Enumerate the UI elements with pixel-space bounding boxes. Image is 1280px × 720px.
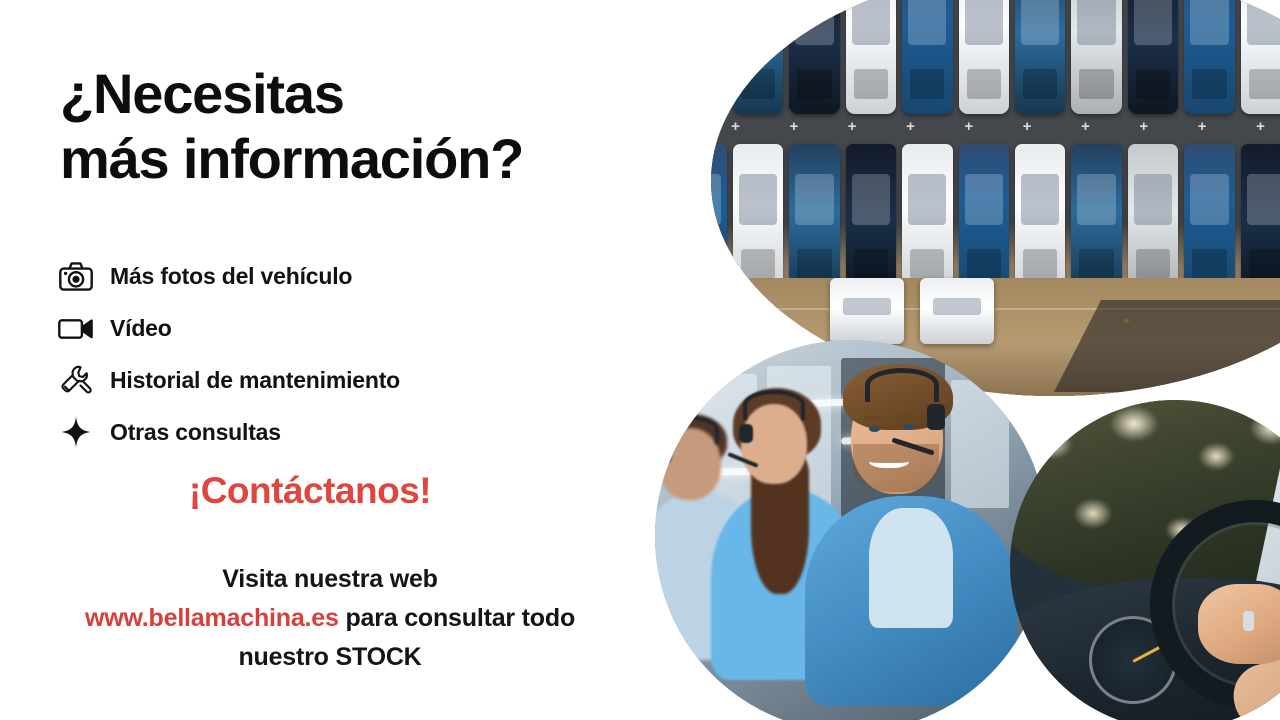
call-center-agents-photo [655, 340, 1047, 720]
car-row-middle [648, 144, 1280, 294]
driver-steering-wheel-photo [1010, 400, 1280, 720]
video-camera-icon [56, 310, 96, 346]
office-background [655, 340, 1047, 720]
steering-wheel [1150, 500, 1280, 710]
website-url[interactable]: www.bellamachina.es [85, 604, 339, 632]
feature-label: Historial de mantenimiento [110, 367, 400, 394]
website-line-2-rest: para consultar todo [339, 604, 575, 632]
page-title: ¿Necesitas más información? [60, 62, 680, 192]
content-column: ¿Necesitas más información? Más fotos de… [0, 0, 690, 720]
sparkle-star-icon [56, 414, 96, 450]
feature-label: Otras consultas [110, 419, 281, 446]
website-line-1: Visita nuestra web [0, 560, 660, 599]
list-item: Historial de mantenimiento [56, 354, 656, 406]
dashboard [1010, 578, 1280, 720]
headline-line-1: ¿Necesitas [60, 62, 344, 125]
lot-ground-strip [648, 278, 1280, 396]
aerial-car-lot-photo: ++++++ ++++++ ⊥⊥⊥⊥⊥⊥ ⊥⊥⊥⊥⊥⊥ 454443424140… [648, 0, 1280, 396]
windshield-view [1010, 400, 1280, 591]
speedometer-cluster [1089, 616, 1177, 704]
website-line-3: nuestro STOCK [0, 638, 660, 677]
parking-stall-numbers: 454443424140 3938373635 [648, 296, 1280, 307]
feature-label: Más fotos del vehículo [110, 263, 352, 290]
feature-list: Más fotos del vehículo Vídeo Histori [56, 250, 656, 458]
wedding-ring [1243, 611, 1254, 631]
list-item: Más fotos del vehículo [56, 250, 656, 302]
website-info: Visita nuestra web www.bellamachina.es p… [0, 560, 660, 676]
parking-cross-marks-row: ++++++ ++++++ [648, 118, 1280, 135]
driver-forearm [1227, 644, 1280, 720]
driver-hand [1198, 584, 1280, 664]
feature-label: Vídeo [110, 315, 172, 342]
camera-icon [56, 258, 96, 294]
list-item: Vídeo [56, 302, 656, 354]
car-lot-surface [648, 0, 1280, 396]
contact-cta[interactable]: ¡Contáctanos! [0, 470, 620, 512]
list-item: Otras consultas [56, 406, 656, 458]
car-row-bottom [648, 306, 1280, 396]
car-row-top [648, 0, 1280, 114]
website-line-2: www.bellamachina.es para consultar todo [0, 599, 660, 638]
a-pillar [1240, 416, 1280, 668]
tools-wrench-icon [56, 362, 96, 398]
parking-tee-marks-row: ⊥⊥⊥⊥⊥⊥ ⊥⊥⊥⊥⊥⊥ [648, 284, 1280, 300]
headline-line-2: más información? [60, 127, 680, 192]
